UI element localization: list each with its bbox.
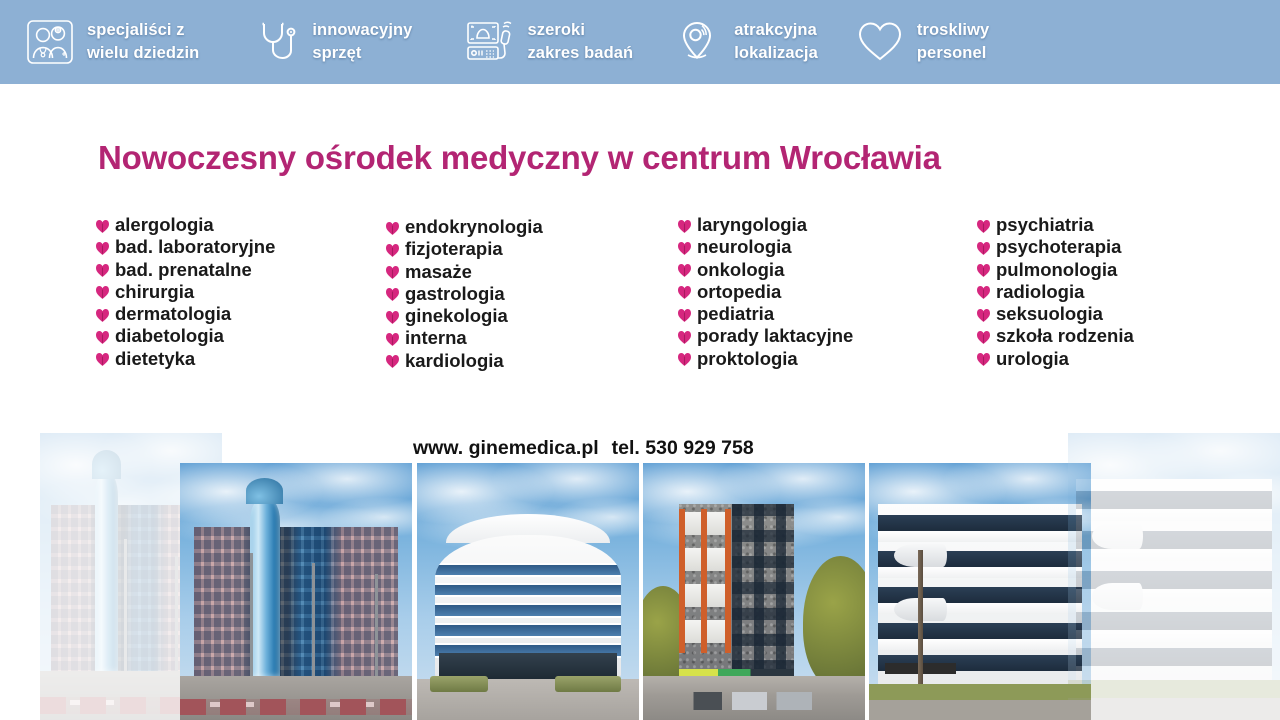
feature-item-staff[interactable]: troskliwy personel	[852, 0, 989, 84]
service-item[interactable]: ortopedia	[676, 281, 853, 303]
tulip-bullet-icon	[94, 348, 114, 370]
tulip-bullet-icon	[94, 259, 114, 281]
gallery-photo-white-rounded-building	[417, 463, 639, 720]
service-item[interactable]: porady laktacyjne	[676, 325, 853, 347]
service-item[interactable]: pediatria	[676, 303, 853, 325]
service-item[interactable]: pulmonologia	[975, 259, 1134, 281]
tulip-bullet-icon	[676, 281, 696, 303]
tulip-bullet-icon	[975, 348, 995, 370]
tulip-bullet-icon	[676, 348, 696, 370]
feature-label: szeroki zakres badań	[518, 19, 633, 65]
gallery-photo-grey-brick-building	[643, 463, 865, 720]
services-column-3: laryngologia neurologia onkologia ortope…	[676, 214, 853, 370]
service-item[interactable]: diabetologia	[94, 325, 275, 347]
feature-item-equipment[interactable]: innowacyjny sprzęt	[247, 0, 412, 84]
service-item[interactable]: gastrologia	[384, 283, 543, 305]
tulip-bullet-icon	[676, 325, 696, 347]
services-column-2: endokrynologia fizjoterapia masaże gastr…	[384, 216, 543, 372]
service-item[interactable]: urologia	[975, 348, 1134, 370]
service-item[interactable]: dietetyka	[94, 348, 275, 370]
tulip-bullet-icon	[94, 236, 114, 258]
services-column-4: psychiatria psychoterapia pulmonologia r…	[975, 214, 1134, 370]
feature-label: atrakcyjna lokalizacja	[725, 19, 818, 65]
feature-label: innowacyjny sprzęt	[303, 19, 412, 65]
tulip-bullet-icon	[975, 236, 995, 258]
tulip-bullet-icon	[676, 236, 696, 258]
service-item[interactable]: bad. prenatalne	[94, 259, 275, 281]
service-item[interactable]: seksuologia	[975, 303, 1134, 325]
tulip-bullet-icon	[975, 214, 995, 236]
tulip-bullet-icon	[676, 214, 696, 236]
tulip-bullet-icon	[94, 214, 114, 236]
feature-item-scope[interactable]: szeroki zakres badań	[462, 0, 633, 84]
services-list: alergologia bad. laboratoryjne bad. pren…	[0, 214, 1280, 384]
service-item[interactable]: interna	[384, 327, 543, 349]
tulip-bullet-icon	[384, 305, 404, 327]
stethoscope-icon	[247, 14, 303, 70]
service-item[interactable]: neurologia	[676, 236, 853, 258]
building-gallery	[0, 433, 1280, 720]
tulip-bullet-icon	[94, 325, 114, 347]
page-title: Nowoczesny ośrodek medyczny w centrum Wr…	[98, 139, 1208, 177]
tulip-bullet-icon	[384, 238, 404, 260]
service-item[interactable]: ginekologia	[384, 305, 543, 327]
service-item[interactable]: radiologia	[975, 281, 1134, 303]
service-item[interactable]: chirurgia	[94, 281, 275, 303]
heart-icon	[852, 14, 908, 70]
gallery-photo-white-modern-office	[869, 463, 1091, 720]
service-item[interactable]: kardiologia	[384, 350, 543, 372]
service-item[interactable]: szkoła rodzenia	[975, 325, 1134, 347]
features-banner: specjaliści z wielu dziedzin innowacyjny…	[0, 0, 1280, 84]
tulip-bullet-icon	[384, 327, 404, 349]
feature-item-location[interactable]: atrakcyjna lokalizacja	[669, 0, 818, 84]
tulip-bullet-icon	[384, 350, 404, 372]
tulip-bullet-icon	[975, 281, 995, 303]
two-doctors-icon	[22, 14, 78, 70]
feature-item-specialists[interactable]: specjaliści z wielu dziedzin	[22, 0, 199, 84]
service-item[interactable]: psychoterapia	[975, 236, 1134, 258]
tulip-bullet-icon	[676, 259, 696, 281]
service-item[interactable]: proktologia	[676, 348, 853, 370]
gallery-photo-white-modern-office-faded	[1068, 433, 1280, 720]
tulip-bullet-icon	[975, 259, 995, 281]
service-item[interactable]: masaże	[384, 261, 543, 283]
service-item[interactable]: dermatologia	[94, 303, 275, 325]
feature-label: troskliwy personel	[908, 19, 989, 65]
location-pin-icon	[669, 14, 725, 70]
tulip-bullet-icon	[975, 303, 995, 325]
tulip-bullet-icon	[94, 281, 114, 303]
service-item[interactable]: bad. laboratoryjne	[94, 236, 275, 258]
gallery-photo-pink-stone-office	[180, 463, 412, 720]
phone-number[interactable]: tel. 530 929 758	[612, 437, 754, 460]
ultrasound-machine-icon	[462, 14, 518, 70]
services-column-1: alergologia bad. laboratoryjne bad. pren…	[94, 214, 275, 370]
feature-label: specjaliści z wielu dziedzin	[78, 19, 199, 65]
service-item[interactable]: onkologia	[676, 259, 853, 281]
tulip-bullet-icon	[676, 303, 696, 325]
service-item[interactable]: fizjoterapia	[384, 238, 543, 260]
service-item[interactable]: psychiatria	[975, 214, 1134, 236]
contact-bar: www. ginemedica.pl tel. 530 929 758	[413, 434, 833, 462]
service-item[interactable]: laryngologia	[676, 214, 853, 236]
tulip-bullet-icon	[94, 303, 114, 325]
tulip-bullet-icon	[384, 216, 404, 238]
service-item[interactable]: endokrynologia	[384, 216, 543, 238]
website-link[interactable]: www. ginemedica.pl	[413, 437, 599, 460]
service-item[interactable]: alergologia	[94, 214, 275, 236]
tulip-bullet-icon	[384, 283, 404, 305]
tulip-bullet-icon	[975, 325, 995, 347]
tulip-bullet-icon	[384, 261, 404, 283]
